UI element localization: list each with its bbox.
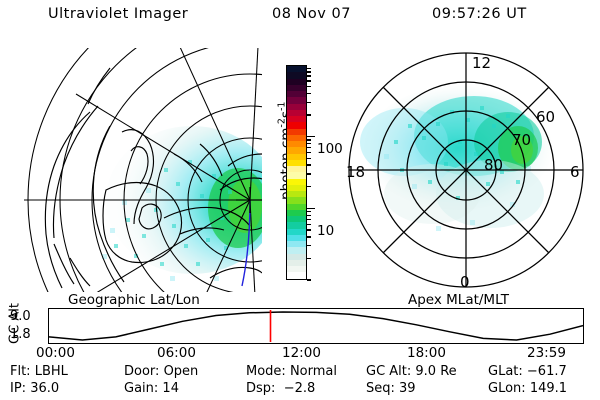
header-bar: Ultraviolet Imager 08 Nov 07 09:57:26 UT	[0, 6, 600, 28]
status-glat: GLat: −61.7	[488, 364, 567, 379]
orbit-x-tick-4: 23:59	[527, 345, 566, 361]
orbit-x-tick-0: 00:00	[36, 345, 75, 361]
orbit-x-tick-3: 18:00	[407, 345, 446, 361]
orbit-altitude-plot[interactable]	[48, 308, 584, 344]
colorbar-gradient-box	[286, 65, 307, 280]
mlt-label-6: 6	[570, 163, 580, 181]
orbit-y-tick-low: 1.8	[10, 327, 31, 342]
colorbar-label-10: 10	[317, 225, 334, 239]
orbit-x-tick-1: 06:00	[157, 345, 196, 361]
colorbar-label-100: 100	[317, 143, 343, 157]
mlat-label-80: 80	[484, 156, 503, 174]
mlt-label-12: 12	[472, 54, 491, 72]
status-glon: GLon: 149.1	[488, 381, 567, 396]
geographic-panel-caption: Geographic Lat/Lon	[68, 292, 200, 308]
orbit-altitude-curve	[49, 312, 583, 340]
magnetic-panel-caption: Apex MLat/MLT	[408, 292, 509, 308]
orbit-y-tick-high: 9.0	[10, 309, 31, 324]
instrument-title: Ultraviolet Imager	[48, 6, 188, 22]
status-door: Door: Open	[124, 364, 198, 379]
mlat-label-60: 60	[536, 108, 555, 126]
status-seq: Seq: 39	[366, 381, 416, 396]
mlt-spokes	[349, 53, 583, 287]
status-ip: IP: 36.0	[10, 381, 59, 396]
status-dsp: Dsp: −2.8	[246, 381, 315, 396]
observation-date: 08 Nov 07	[272, 6, 351, 22]
colorbar-ticks	[307, 65, 315, 280]
status-gc-alt: GC Alt: 9.0 Re	[366, 364, 457, 379]
aurora-emission-magnetic	[360, 86, 552, 231]
status-bar: Flt: LBHL Door: Open Mode: Normal GC Alt…	[0, 364, 600, 400]
status-gain: Gain: 14	[124, 381, 179, 396]
mlt-label-0: 0	[460, 273, 470, 291]
uvi-image-window: Ultraviolet Imager 08 Nov 07 09:57:26 UT	[0, 0, 600, 400]
status-mode: Mode: Normal	[246, 364, 337, 379]
mlat-label-70: 70	[512, 131, 531, 149]
orbit-altitude-svg	[49, 309, 583, 343]
orbit-x-tick-2: 12:00	[282, 345, 321, 361]
geographic-plot-svg	[14, 48, 262, 292]
status-flt: Flt: LBHL	[10, 364, 68, 379]
mlt-label-18: 18	[346, 163, 365, 181]
mlt-dial-svg: 12 18 6 0 60 70 80	[340, 44, 598, 294]
magnetic-projection-panel[interactable]: 12 18 6 0 60 70 80	[340, 44, 598, 294]
observation-time: 09:57:26 UT	[432, 6, 527, 22]
colorbar-gradient	[287, 66, 306, 279]
aurora-emission-geographic	[102, 126, 262, 281]
geographic-projection-panel[interactable]	[14, 48, 262, 292]
